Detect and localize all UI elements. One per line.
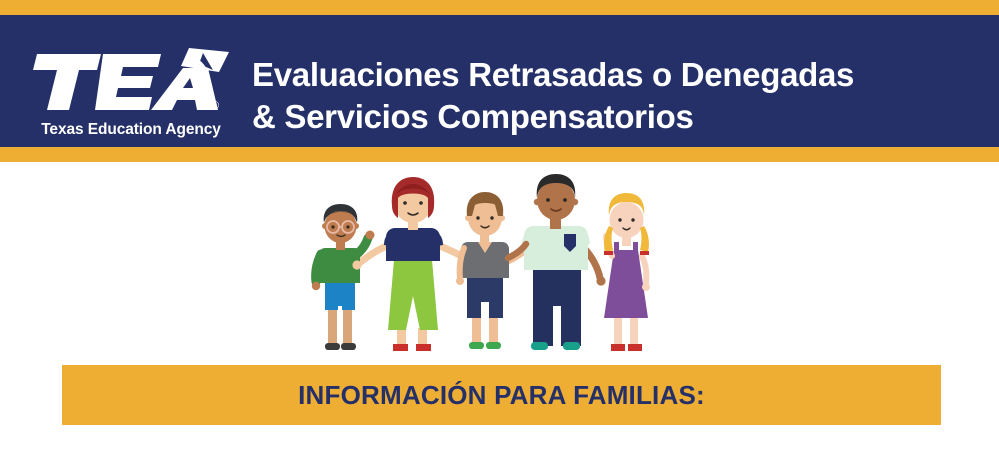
figure-girl-purple-dress (604, 193, 650, 351)
page-title: Evaluaciones Retrasadas o Denegadas & Se… (252, 54, 972, 138)
header-bottom-gold-rule (0, 147, 999, 162)
family-holding-hands-illustration (300, 168, 680, 360)
tea-logo-wordmark: Texas Education Agency (33, 121, 229, 139)
page-title-line-1: Evaluaciones Retrasadas o Denegadas (252, 54, 972, 96)
header-band: ® Texas Education Agency Evaluaciones Re… (0, 15, 999, 147)
page-root: ® Texas Education Agency Evaluaciones Re… (0, 0, 999, 456)
figure-child-gray-shirt (456, 192, 509, 349)
banner-label: INFORMACIÓN PARA FAMILIAS: (298, 380, 705, 411)
page-title-line-2: & Servicios Compensatorios (252, 96, 972, 138)
tea-logo: ® Texas Education Agency (33, 48, 233, 148)
registered-trademark-icon: ® (211, 100, 219, 112)
information-for-families-banner: INFORMACIÓN PARA FAMILIAS: (62, 365, 941, 425)
tea-logo-mark (33, 48, 233, 116)
top-gold-rule (0, 0, 999, 15)
figure-boy-with-glasses (312, 204, 375, 350)
